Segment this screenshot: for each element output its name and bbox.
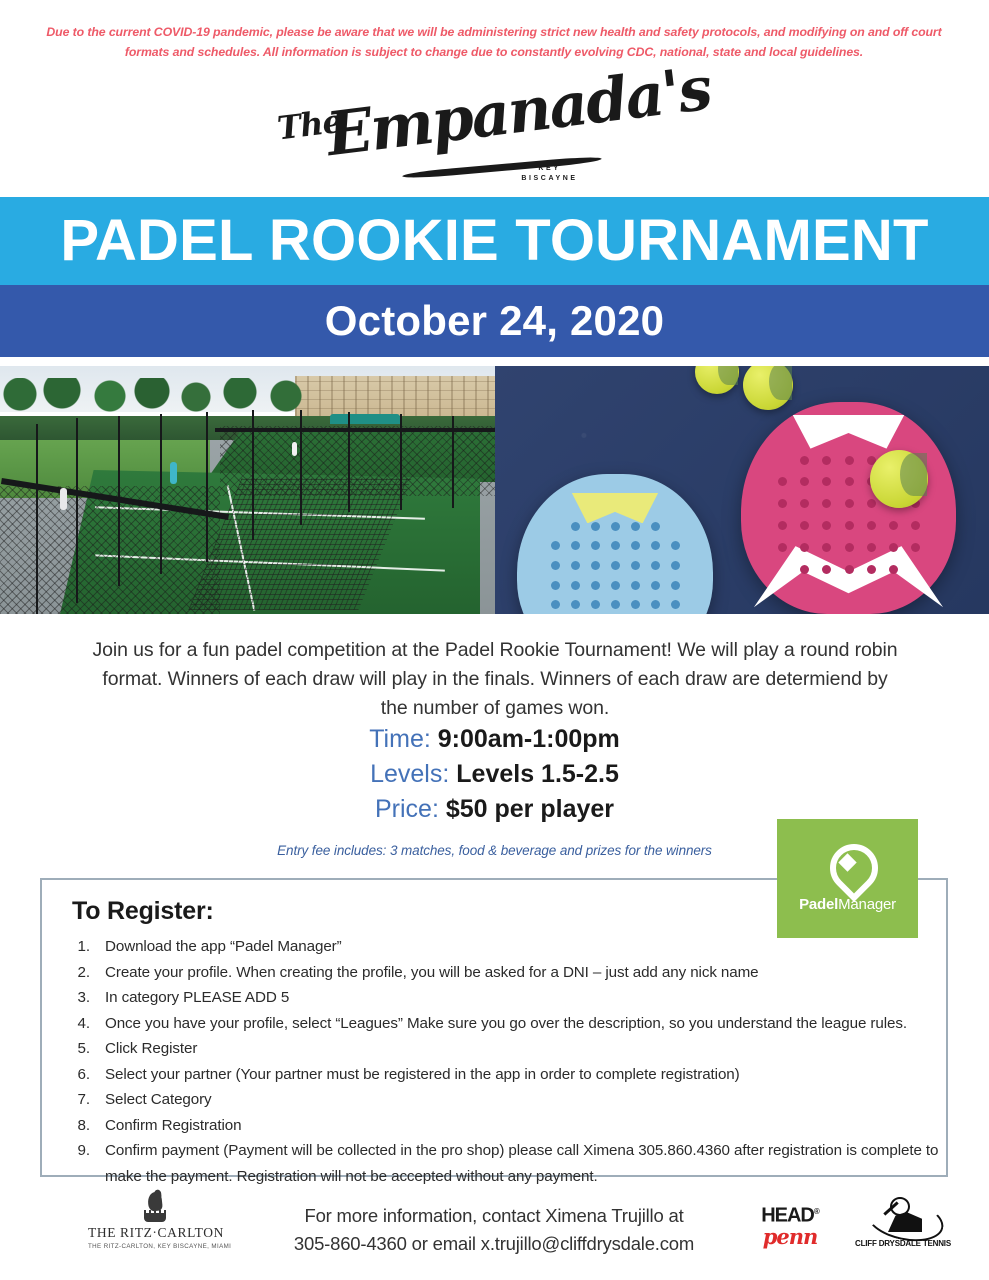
list-item-text: Select your partner (Your partner must b… [105, 1066, 740, 1083]
racket-hole [911, 521, 920, 530]
head-wordmark: HEAD® [744, 1202, 836, 1226]
player-silhouette [292, 442, 297, 456]
detail-value-time: 9:00am-1:00pm [438, 725, 620, 753]
racket-hole [778, 477, 787, 486]
detail-row-levels: Levels: Levels 1.5-2.5 [0, 757, 989, 792]
racket-hole [822, 565, 831, 574]
list-item: 9.Confirm payment (Payment will be colle… [62, 1138, 952, 1189]
cliff-drysdale-logo: CLIFF DRYSDALE TENNIS [844, 1196, 962, 1248]
list-item: 2.Create your profile. When creating the… [62, 960, 952, 986]
padel-manager-icon [826, 844, 870, 890]
racket-hole [778, 543, 787, 552]
empanadas-logo-sub: KEY BISCAYNE [0, 164, 989, 184]
racket-hole [631, 541, 640, 550]
list-item-text: Select Category [105, 1091, 212, 1108]
event-details: Time: 9:00am-1:00pm Levels: Levels 1.5-2… [0, 722, 989, 827]
fence-post [400, 414, 402, 510]
penn-wordmark: penn [744, 1226, 836, 1248]
racket-hole [651, 581, 660, 590]
detail-label-price: Price: [375, 795, 439, 823]
padel-courts-photo [0, 366, 495, 614]
list-item-text: Once you have your profile, select “Leag… [105, 1015, 907, 1032]
racket-hole [800, 499, 809, 508]
court-fence-mesh [0, 486, 220, 614]
racket-hole [571, 600, 580, 609]
sponsor-logos: HEAD® penn CLIFF DRYSDALE TENNIS [740, 1194, 970, 1264]
racket-hole [845, 456, 854, 465]
lion-shape [147, 1191, 163, 1211]
racket-hole [591, 581, 600, 590]
padel-manager-word-manager: Manager [838, 896, 896, 913]
flyer-page: Due to the current COVID-19 pandemic, pl… [0, 0, 989, 1280]
list-item: 4.Once you have your profile, select “Le… [62, 1011, 952, 1037]
racket-hole [591, 522, 600, 531]
list-item-number: 3. [68, 985, 90, 1011]
list-item-number: 8. [68, 1113, 90, 1139]
racket-hole [800, 477, 809, 486]
list-item-number: 2. [68, 960, 90, 986]
padel-manager-logo: PadelManager [777, 819, 918, 938]
racket-hole [845, 477, 854, 486]
fence-post [252, 410, 254, 540]
pink-padel-racket [741, 402, 956, 614]
racket-hole [611, 522, 620, 531]
racket-hole [867, 543, 876, 552]
event-date: October 24, 2020 [325, 300, 664, 342]
racket-hole [571, 561, 580, 570]
list-item-number: 9. [68, 1138, 90, 1164]
racket-hole [571, 581, 580, 590]
racket-hole [778, 521, 787, 530]
racket-hole [611, 561, 620, 570]
racket-hole [571, 541, 580, 550]
racket-hole [671, 581, 680, 590]
fence-post [300, 410, 302, 525]
contact-line-1: For more information, contact Ximena Tru… [268, 1202, 720, 1230]
racket-hole [631, 600, 640, 609]
racket-hole [867, 499, 876, 508]
racket-hole [889, 565, 898, 574]
racket-hole [551, 561, 560, 570]
racket-hole [822, 499, 831, 508]
padel-rackets-photo [495, 366, 989, 614]
detail-label-levels: Levels: [370, 760, 449, 788]
racket-hole [671, 541, 680, 550]
contact-line-2: 305-860-4360 or email x.trujillo@cliffdr… [268, 1230, 720, 1258]
list-item-text: In category PLEASE ADD 5 [105, 989, 289, 1006]
title-band: PADEL ROOKIE TOURNAMENT [0, 197, 989, 285]
crown-shape [144, 1213, 166, 1222]
list-item-number: 6. [68, 1062, 90, 1088]
list-item-text: Click Register [105, 1040, 197, 1057]
racket-hole [651, 522, 660, 531]
list-item-text: Create your profile. When creating the p… [105, 964, 759, 981]
list-item-number: 4. [68, 1011, 90, 1037]
detail-row-time: Time: 9:00am-1:00pm [0, 722, 989, 757]
racket-hole [651, 561, 660, 570]
racket-hole [867, 521, 876, 530]
fence-post [348, 412, 350, 512]
list-item-text: Confirm Registration [105, 1117, 241, 1134]
empanadas-logo-sub-biscayne: BISCAYNE [110, 174, 989, 184]
racket-hole [611, 541, 620, 550]
racket-hole [822, 456, 831, 465]
player-silhouette [170, 462, 177, 484]
racket-hole [845, 565, 854, 574]
racket-hole [631, 561, 640, 570]
racket-hole [867, 565, 876, 574]
register-heading: To Register: [72, 897, 214, 926]
racket-hole [889, 543, 898, 552]
event-description: Join us for a fun padel competition at t… [90, 636, 900, 723]
list-item: 6.Select your partner (Your partner must… [62, 1062, 952, 1088]
racket-hole [671, 561, 680, 570]
racket-hole [591, 561, 600, 570]
racket-hole [822, 543, 831, 552]
racket-hole [889, 521, 898, 530]
padel-manager-wordmark: PadelManager [799, 896, 896, 913]
racket-hole [911, 543, 920, 552]
list-item: 8.Confirm Registration [62, 1113, 952, 1139]
head-trademark: ® [814, 1207, 819, 1216]
detail-label-time: Time: [369, 725, 431, 753]
register-steps-list: 1.Download the app “Padel Manager” 2.Cre… [62, 934, 952, 1189]
padel-manager-word-padel: Padel [799, 896, 838, 913]
racket-hole [631, 522, 640, 531]
fence-post [118, 416, 120, 586]
racket-hole [611, 600, 620, 609]
list-item: 7.Select Category [62, 1087, 952, 1113]
empanadas-logo-sub-key: KEY [110, 164, 989, 174]
contact-info: For more information, contact Ximena Tru… [268, 1202, 720, 1258]
fence-post [160, 414, 162, 574]
racket-hole [631, 581, 640, 590]
date-band: October 24, 2020 [0, 285, 989, 357]
page-title: PADEL ROOKIE TOURNAMENT [60, 212, 928, 270]
empanadas-logo-name: Empanada's [323, 54, 714, 170]
racket-hole [845, 543, 854, 552]
ritz-carlton-name: THE RITZ·CARLTON [88, 1225, 222, 1241]
racket-hole [778, 499, 787, 508]
racket-hole [845, 499, 854, 508]
racket-hole [551, 600, 560, 609]
footer: THE RITZ·CARLTON THE RITZ-CARLTON, KEY B… [0, 1188, 989, 1280]
ritz-carlton-logo: THE RITZ·CARLTON THE RITZ-CARLTON, KEY B… [88, 1192, 222, 1250]
list-item-number: 1. [68, 934, 90, 960]
list-item-text: Download the app “Padel Manager” [105, 938, 342, 955]
list-item: 3.In category PLEASE ADD 5 [62, 985, 952, 1011]
player-silhouette [60, 488, 67, 510]
list-item-number: 5. [68, 1036, 90, 1062]
cliff-drysdale-caption: CLIFF DRYSDALE TENNIS [844, 1239, 962, 1248]
head-penn-logo: HEAD® penn [744, 1202, 836, 1248]
list-item-text: Confirm payment (Payment will be collect… [105, 1142, 938, 1185]
racket-hole [845, 521, 854, 530]
list-item: 5.Click Register [62, 1036, 952, 1062]
tennis-ball [870, 450, 928, 508]
racket-hole [551, 581, 560, 590]
fence-post [206, 412, 208, 562]
empanadas-logo: TheEmpanada's KEY BISCAYNE [0, 78, 989, 190]
racket-hole [800, 456, 809, 465]
fence-post [452, 416, 454, 508]
padel-manager-ring-shape [820, 834, 888, 902]
racket-hole [671, 600, 680, 609]
racket-hole [651, 600, 660, 609]
racket-chevron [793, 415, 905, 449]
racket-hole [571, 522, 580, 531]
racket-hole [822, 521, 831, 530]
awning [330, 414, 400, 424]
racket-holes [544, 516, 685, 614]
racket-hole [651, 541, 660, 550]
detail-value-levels: Levels 1.5-2.5 [456, 760, 619, 788]
racket-hole [611, 581, 620, 590]
tennis-player-icon [864, 1196, 942, 1238]
racket-hole [591, 600, 600, 609]
racket-hole [800, 521, 809, 530]
racket-hole [800, 565, 809, 574]
detail-value-price: $50 per player [446, 795, 614, 823]
fence-post [36, 424, 38, 614]
racket-hole [591, 541, 600, 550]
racket-hole [822, 477, 831, 486]
racket-hole [551, 541, 560, 550]
racket-hole [800, 543, 809, 552]
fence-post [76, 418, 78, 603]
ritz-carlton-location: THE RITZ-CARLTON, KEY BISCAYNE, MIAMI [88, 1243, 222, 1250]
list-item-number: 7. [68, 1087, 90, 1113]
ritz-lion-crown-icon [142, 1192, 168, 1222]
photo-strip [0, 366, 989, 614]
